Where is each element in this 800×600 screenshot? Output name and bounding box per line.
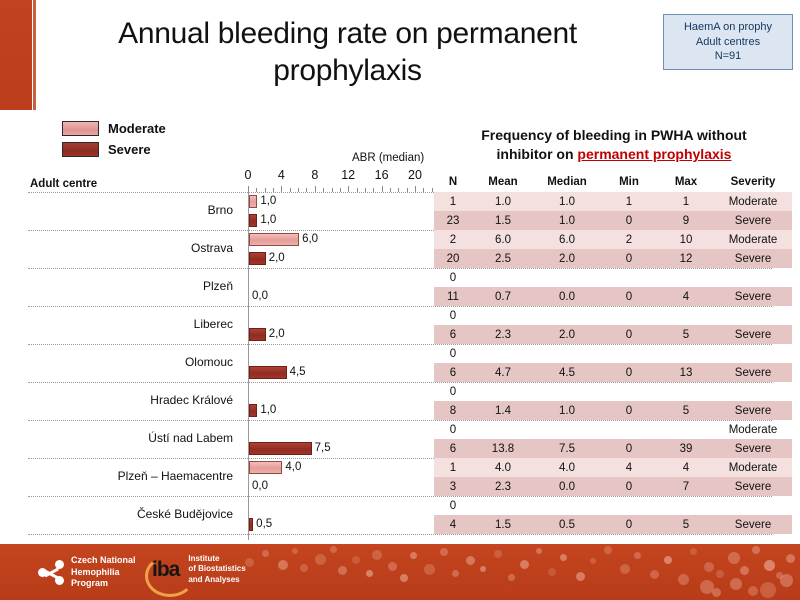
table-cell-min: 0 xyxy=(600,253,658,265)
axis-tickmark xyxy=(365,188,366,192)
iba-line1: Institute xyxy=(188,554,245,564)
decorative-bubble xyxy=(262,550,269,557)
decorative-bubble xyxy=(712,588,721,597)
axis-tickmark xyxy=(315,186,316,192)
table-cell-min: 0 xyxy=(600,291,658,303)
axis-tickmark xyxy=(306,188,307,192)
table-cell-median: 7.5 xyxy=(534,443,600,455)
table-cell-severity: Severe xyxy=(714,215,792,227)
page-title: Annual bleeding rate on permanent prophy… xyxy=(55,16,640,89)
table-cell-median: 0.5 xyxy=(534,519,600,531)
table-row: 64.74.5013Severe xyxy=(434,363,792,382)
chart-bar-value-label: 6,0 xyxy=(302,233,318,245)
x-tick-label-8: 8 xyxy=(311,168,318,182)
x-tick-label-16: 16 xyxy=(375,168,389,182)
table-cell-severity: Severe xyxy=(714,291,792,303)
info-box-line1: HaemA on prophy xyxy=(684,20,772,35)
table-cell-mean: 1.5 xyxy=(472,215,534,227)
decorative-bubble xyxy=(278,560,288,570)
table-cell-severity: Severe xyxy=(714,405,792,417)
cnhp-line1: Czech National xyxy=(71,555,136,567)
decorative-bubble xyxy=(548,568,556,576)
table-cell-severity: Severe xyxy=(714,443,792,455)
table-cell-mean: 13.8 xyxy=(472,443,534,455)
table-row: 14.04.044Moderate xyxy=(434,458,792,477)
table-header-severity: Severity xyxy=(714,176,792,188)
decorative-bubble xyxy=(764,560,775,571)
decorative-bubble xyxy=(760,582,776,598)
decorative-bubble xyxy=(508,574,515,581)
chart-category-label: Plzeň xyxy=(28,279,233,293)
decorative-bubble xyxy=(748,586,758,596)
x-tick-label-20: 20 xyxy=(408,168,422,182)
chart-bar-moderate xyxy=(249,195,257,208)
cnhp-text: Czech National Hemophilia Program xyxy=(71,555,136,590)
table-cell-median: 4.5 xyxy=(534,367,600,379)
table-row: 231.51.009Severe xyxy=(434,211,792,230)
axis-tickmark xyxy=(281,186,282,192)
info-box-line3: N=91 xyxy=(715,49,742,64)
axis-tickmark xyxy=(423,188,424,192)
table-row: 0 xyxy=(434,344,792,363)
chart-bar-value-label: 1,0 xyxy=(260,404,276,416)
chart-bar-severe xyxy=(249,214,257,227)
table-row: 0 xyxy=(434,306,792,325)
table-cell-mean: 2.5 xyxy=(472,253,534,265)
decorative-bubble xyxy=(410,552,417,559)
table-cell-mean: 4.0 xyxy=(472,462,534,474)
axis-title-abr: ABR (median) xyxy=(352,152,424,164)
decorative-bubble xyxy=(466,556,475,565)
table-cell-max: 13 xyxy=(658,367,714,379)
info-box-line2: Adult centres xyxy=(696,35,760,50)
chart-bar-severe xyxy=(249,442,312,455)
decorative-bubble xyxy=(330,546,337,553)
legend-label-severe: Severe xyxy=(108,142,151,157)
table-cell-median: 4.0 xyxy=(534,462,600,474)
decorative-bubble xyxy=(780,574,793,587)
decorative-bubble xyxy=(520,560,529,569)
chart-and-table-body: Brno1,011.01.011Moderate1,0231.51.009Sev… xyxy=(28,192,772,540)
left-accent-bar xyxy=(0,0,32,110)
legend-item-moderate: Moderate xyxy=(62,120,166,137)
table-cell-min: 0 xyxy=(600,405,658,417)
chart-bar-value-label: 4,0 xyxy=(285,461,301,473)
table-cell-n: 1 xyxy=(434,196,472,208)
legend-swatch-moderate-icon xyxy=(62,121,99,136)
decorative-bubble xyxy=(716,570,724,578)
chart-bar-value-label: 2,0 xyxy=(269,252,285,264)
table-cell-median: 1.0 xyxy=(534,196,600,208)
decorative-bubble xyxy=(576,572,585,581)
table-cell-max: 5 xyxy=(658,405,714,417)
table-cell-min: 0 xyxy=(600,215,658,227)
decorative-bubble xyxy=(664,556,672,564)
table-cell-mean: 1.5 xyxy=(472,519,534,531)
table-cell-n: 3 xyxy=(434,481,472,493)
chart-category-label: České Budějovice xyxy=(28,507,233,521)
axis-tickmark xyxy=(290,188,291,192)
chart-bar-severe xyxy=(249,328,266,341)
axis-tickmark xyxy=(398,188,399,192)
row-separator xyxy=(28,534,772,535)
iba-text: Institute of Biostatistics and Analyses xyxy=(188,554,245,585)
table-cell-n: 11 xyxy=(434,291,472,303)
table-cell-n: 2 xyxy=(434,234,472,246)
iba-line3: and Analyses xyxy=(188,575,245,585)
chart-legend: Moderate Severe xyxy=(62,120,166,162)
decorative-bubble xyxy=(536,548,542,554)
iba-line2: of Biostatistics xyxy=(188,564,245,574)
molecule-icon xyxy=(38,559,64,585)
decorative-bubble xyxy=(388,562,397,571)
table-cell-n: 0 xyxy=(434,500,472,512)
decorative-bubble xyxy=(740,566,749,575)
table-cell-median: 0.0 xyxy=(534,481,600,493)
cnhp-line3: Program xyxy=(71,578,136,590)
table-cell-n: 8 xyxy=(434,405,472,417)
decorative-bubble xyxy=(678,574,689,585)
table-cell-max: 4 xyxy=(658,291,714,303)
table-cell-mean: 1.0 xyxy=(472,196,534,208)
decorative-bubble xyxy=(372,550,382,560)
table-cell-median: 0.0 xyxy=(534,291,600,303)
chart-bar-value-label: 4,5 xyxy=(290,366,306,378)
chart-bar-value-label: 1,0 xyxy=(260,195,276,207)
table-cell-max: 12 xyxy=(658,253,714,265)
table-cell-n: 0 xyxy=(434,348,472,360)
table-row: 62.32.005Severe xyxy=(434,325,792,344)
table-cell-median: 2.0 xyxy=(534,253,600,265)
table-title-highlight: permanent prophylaxis xyxy=(577,146,731,162)
table-cell-max: 7 xyxy=(658,481,714,493)
table-row: 41.50.505Severe xyxy=(434,515,792,534)
axis-tickmark xyxy=(407,188,408,192)
decorative-bubble xyxy=(315,554,326,565)
chart-bar-value-label: 0,5 xyxy=(256,518,272,530)
decorative-bubble xyxy=(452,570,459,577)
table-row: 81.41.005Severe xyxy=(434,401,792,420)
chart-bar-value-label: 0,0 xyxy=(252,480,268,492)
table-cell-min: 0 xyxy=(600,443,658,455)
table-cell-min: 0 xyxy=(600,329,658,341)
table-row: 32.30.007Severe xyxy=(434,477,792,496)
axis-tickmark xyxy=(323,188,324,192)
decorative-bubble xyxy=(338,566,347,575)
table-cell-severity: Moderate xyxy=(714,424,792,436)
chart-bar-value-label: 1,0 xyxy=(260,214,276,226)
table-cell-mean: 2.3 xyxy=(472,329,534,341)
chart-category-label: Ústí nad Labem xyxy=(28,431,233,445)
decorative-bubble xyxy=(560,554,567,561)
table-cell-n: 0 xyxy=(434,386,472,398)
table-cell-max: 39 xyxy=(658,443,714,455)
decorative-bubble xyxy=(366,570,373,577)
legend-swatch-severe-icon xyxy=(62,142,99,157)
decorative-bubble xyxy=(245,558,254,567)
table-row: 26.06.0210Moderate xyxy=(434,230,792,249)
iba-wordmark: iba xyxy=(152,558,179,581)
table-cell-n: 6 xyxy=(434,443,472,455)
table-row: 11.01.011Moderate xyxy=(434,192,792,211)
table-cell-median: 6.0 xyxy=(534,234,600,246)
footer-bar: Czech National Hemophilia Program iba In… xyxy=(0,544,800,600)
info-box: HaemA on prophy Adult centres N=91 xyxy=(663,14,793,70)
table-header-row: NMeanMedianMinMaxSeverity xyxy=(434,176,792,188)
table-cell-n: 4 xyxy=(434,519,472,531)
decorative-bubble xyxy=(352,556,360,564)
chart-bar-severe xyxy=(249,518,253,531)
table-cell-severity: Moderate xyxy=(714,234,792,246)
chart-category-label: Ostrava xyxy=(28,241,233,255)
table-cell-min: 2 xyxy=(600,234,658,246)
table-row: 110.70.004Severe xyxy=(434,287,792,306)
table-cell-mean: 1.4 xyxy=(472,405,534,417)
decorative-bubble xyxy=(620,564,630,574)
axis-tickmark xyxy=(256,188,257,192)
decorative-bubble xyxy=(604,546,612,554)
table-cell-min: 0 xyxy=(600,481,658,493)
table-cell-max: 10 xyxy=(658,234,714,246)
table-row: 0 xyxy=(434,382,792,401)
table-cell-min: 0 xyxy=(600,367,658,379)
table-cell-max: 1 xyxy=(658,196,714,208)
decorative-bubble xyxy=(292,548,298,554)
table-cell-n: 20 xyxy=(434,253,472,265)
axis-tickmark xyxy=(390,188,391,192)
axis-tickmark xyxy=(348,186,349,192)
axis-tickmark xyxy=(298,188,299,192)
axis-tickmark xyxy=(415,186,416,192)
decorative-bubble xyxy=(690,548,697,555)
table-row: 202.52.0012Severe xyxy=(434,249,792,268)
axis-tickmark xyxy=(432,188,433,192)
decorative-bubble xyxy=(440,548,448,556)
table-cell-median: 2.0 xyxy=(534,329,600,341)
x-tick-label-0: 0 xyxy=(245,168,252,182)
table-cell-mean: 0.7 xyxy=(472,291,534,303)
logo-czech-national-hemophilia-program: Czech National Hemophilia Program xyxy=(38,555,136,590)
table-cell-severity: Severe xyxy=(714,253,792,265)
x-tick-label-12: 12 xyxy=(341,168,355,182)
axis-tickmark xyxy=(248,186,249,192)
table-cell-min: 1 xyxy=(600,196,658,208)
chart-bar-value-label: 7,5 xyxy=(315,442,331,454)
table-header-mean: Mean xyxy=(472,176,534,188)
table-header-median: Median xyxy=(534,176,600,188)
chart-bar-moderate xyxy=(249,233,299,246)
chart-bar-value-label: 0,0 xyxy=(252,290,268,302)
table-cell-mean: 6.0 xyxy=(472,234,534,246)
axis-tickmark xyxy=(373,188,374,192)
table-cell-n: 23 xyxy=(434,215,472,227)
table-cell-max: 4 xyxy=(658,462,714,474)
chart-bar-severe xyxy=(249,252,266,265)
table-title-line2-prefix: inhibitor on xyxy=(497,146,578,162)
decorative-bubble xyxy=(786,554,795,563)
chart-bar-moderate xyxy=(249,461,282,474)
axis-tickmark xyxy=(382,186,383,192)
table-cell-min: 0 xyxy=(600,519,658,531)
table-header-n: N xyxy=(434,176,472,188)
axis-tickmark xyxy=(273,188,274,192)
chart-category-label: Brno xyxy=(28,203,233,217)
decorative-bubble xyxy=(634,552,641,559)
table-title-line1: Frequency of bleeding in PWHA without xyxy=(481,127,746,143)
table-row: 613.87.5039Severe xyxy=(434,439,792,458)
decorative-bubble xyxy=(650,570,659,579)
table-cell-n: 6 xyxy=(434,367,472,379)
table-cell-median: 1.0 xyxy=(534,215,600,227)
table-cell-severity: Severe xyxy=(714,481,792,493)
chart-bar-severe xyxy=(249,404,257,417)
table-title: Frequency of bleeding in PWHA without in… xyxy=(430,126,798,164)
decorative-bubble xyxy=(590,558,596,564)
axis-tickmark xyxy=(332,188,333,192)
table-row: 0Moderate xyxy=(434,420,792,439)
cnhp-line2: Hemophilia xyxy=(71,567,136,579)
chart-category-label: Hradec Králové xyxy=(28,393,233,407)
decorative-bubble xyxy=(704,562,714,572)
chart-bar-severe xyxy=(249,366,287,379)
decorative-bubble xyxy=(730,578,742,590)
table-row: 0 xyxy=(434,268,792,287)
table-cell-n: 0 xyxy=(434,310,472,322)
table-cell-median: 1.0 xyxy=(534,405,600,417)
axis-tickmark xyxy=(340,188,341,192)
decorative-bubble xyxy=(424,564,435,575)
table-cell-max: 5 xyxy=(658,519,714,531)
table-cell-max: 9 xyxy=(658,215,714,227)
table-cell-n: 0 xyxy=(434,424,472,436)
decorative-bubble xyxy=(400,574,408,582)
chart-bar-value-label: 2,0 xyxy=(269,328,285,340)
legend-item-severe: Severe xyxy=(62,141,166,158)
table-cell-n: 0 xyxy=(434,272,472,284)
axis-tickmark xyxy=(357,188,358,192)
table-cell-min: 4 xyxy=(600,462,658,474)
chart-category-label: Plzeň – Haemacentre xyxy=(28,469,233,483)
table-cell-severity: Moderate xyxy=(714,462,792,474)
table-header-min: Min xyxy=(600,176,658,188)
decorative-bubble xyxy=(728,552,740,564)
legend-label-moderate: Moderate xyxy=(108,121,166,136)
table-cell-mean: 2.3 xyxy=(472,481,534,493)
chart-category-label: Liberec xyxy=(28,317,233,331)
decorative-bubble xyxy=(300,564,308,572)
table-cell-n: 6 xyxy=(434,329,472,341)
table-cell-severity: Severe xyxy=(714,519,792,531)
chart-category-label: Olomouc xyxy=(28,355,233,369)
table-cell-severity: Severe xyxy=(714,367,792,379)
table-cell-max: 5 xyxy=(658,329,714,341)
table-cell-severity: Moderate xyxy=(714,196,792,208)
x-tick-label-4: 4 xyxy=(278,168,285,182)
table-cell-n: 1 xyxy=(434,462,472,474)
decorative-bubble xyxy=(494,550,502,558)
table-cell-severity: Severe xyxy=(714,329,792,341)
table-header-max: Max xyxy=(658,176,714,188)
decorative-bubble xyxy=(480,566,486,572)
table-row: 0 xyxy=(434,496,792,515)
axis-tickmark xyxy=(265,188,266,192)
decorative-bubble xyxy=(752,546,760,554)
logo-iba: iba Institute of Biostatistics and Analy… xyxy=(152,554,246,585)
table-cell-mean: 4.7 xyxy=(472,367,534,379)
